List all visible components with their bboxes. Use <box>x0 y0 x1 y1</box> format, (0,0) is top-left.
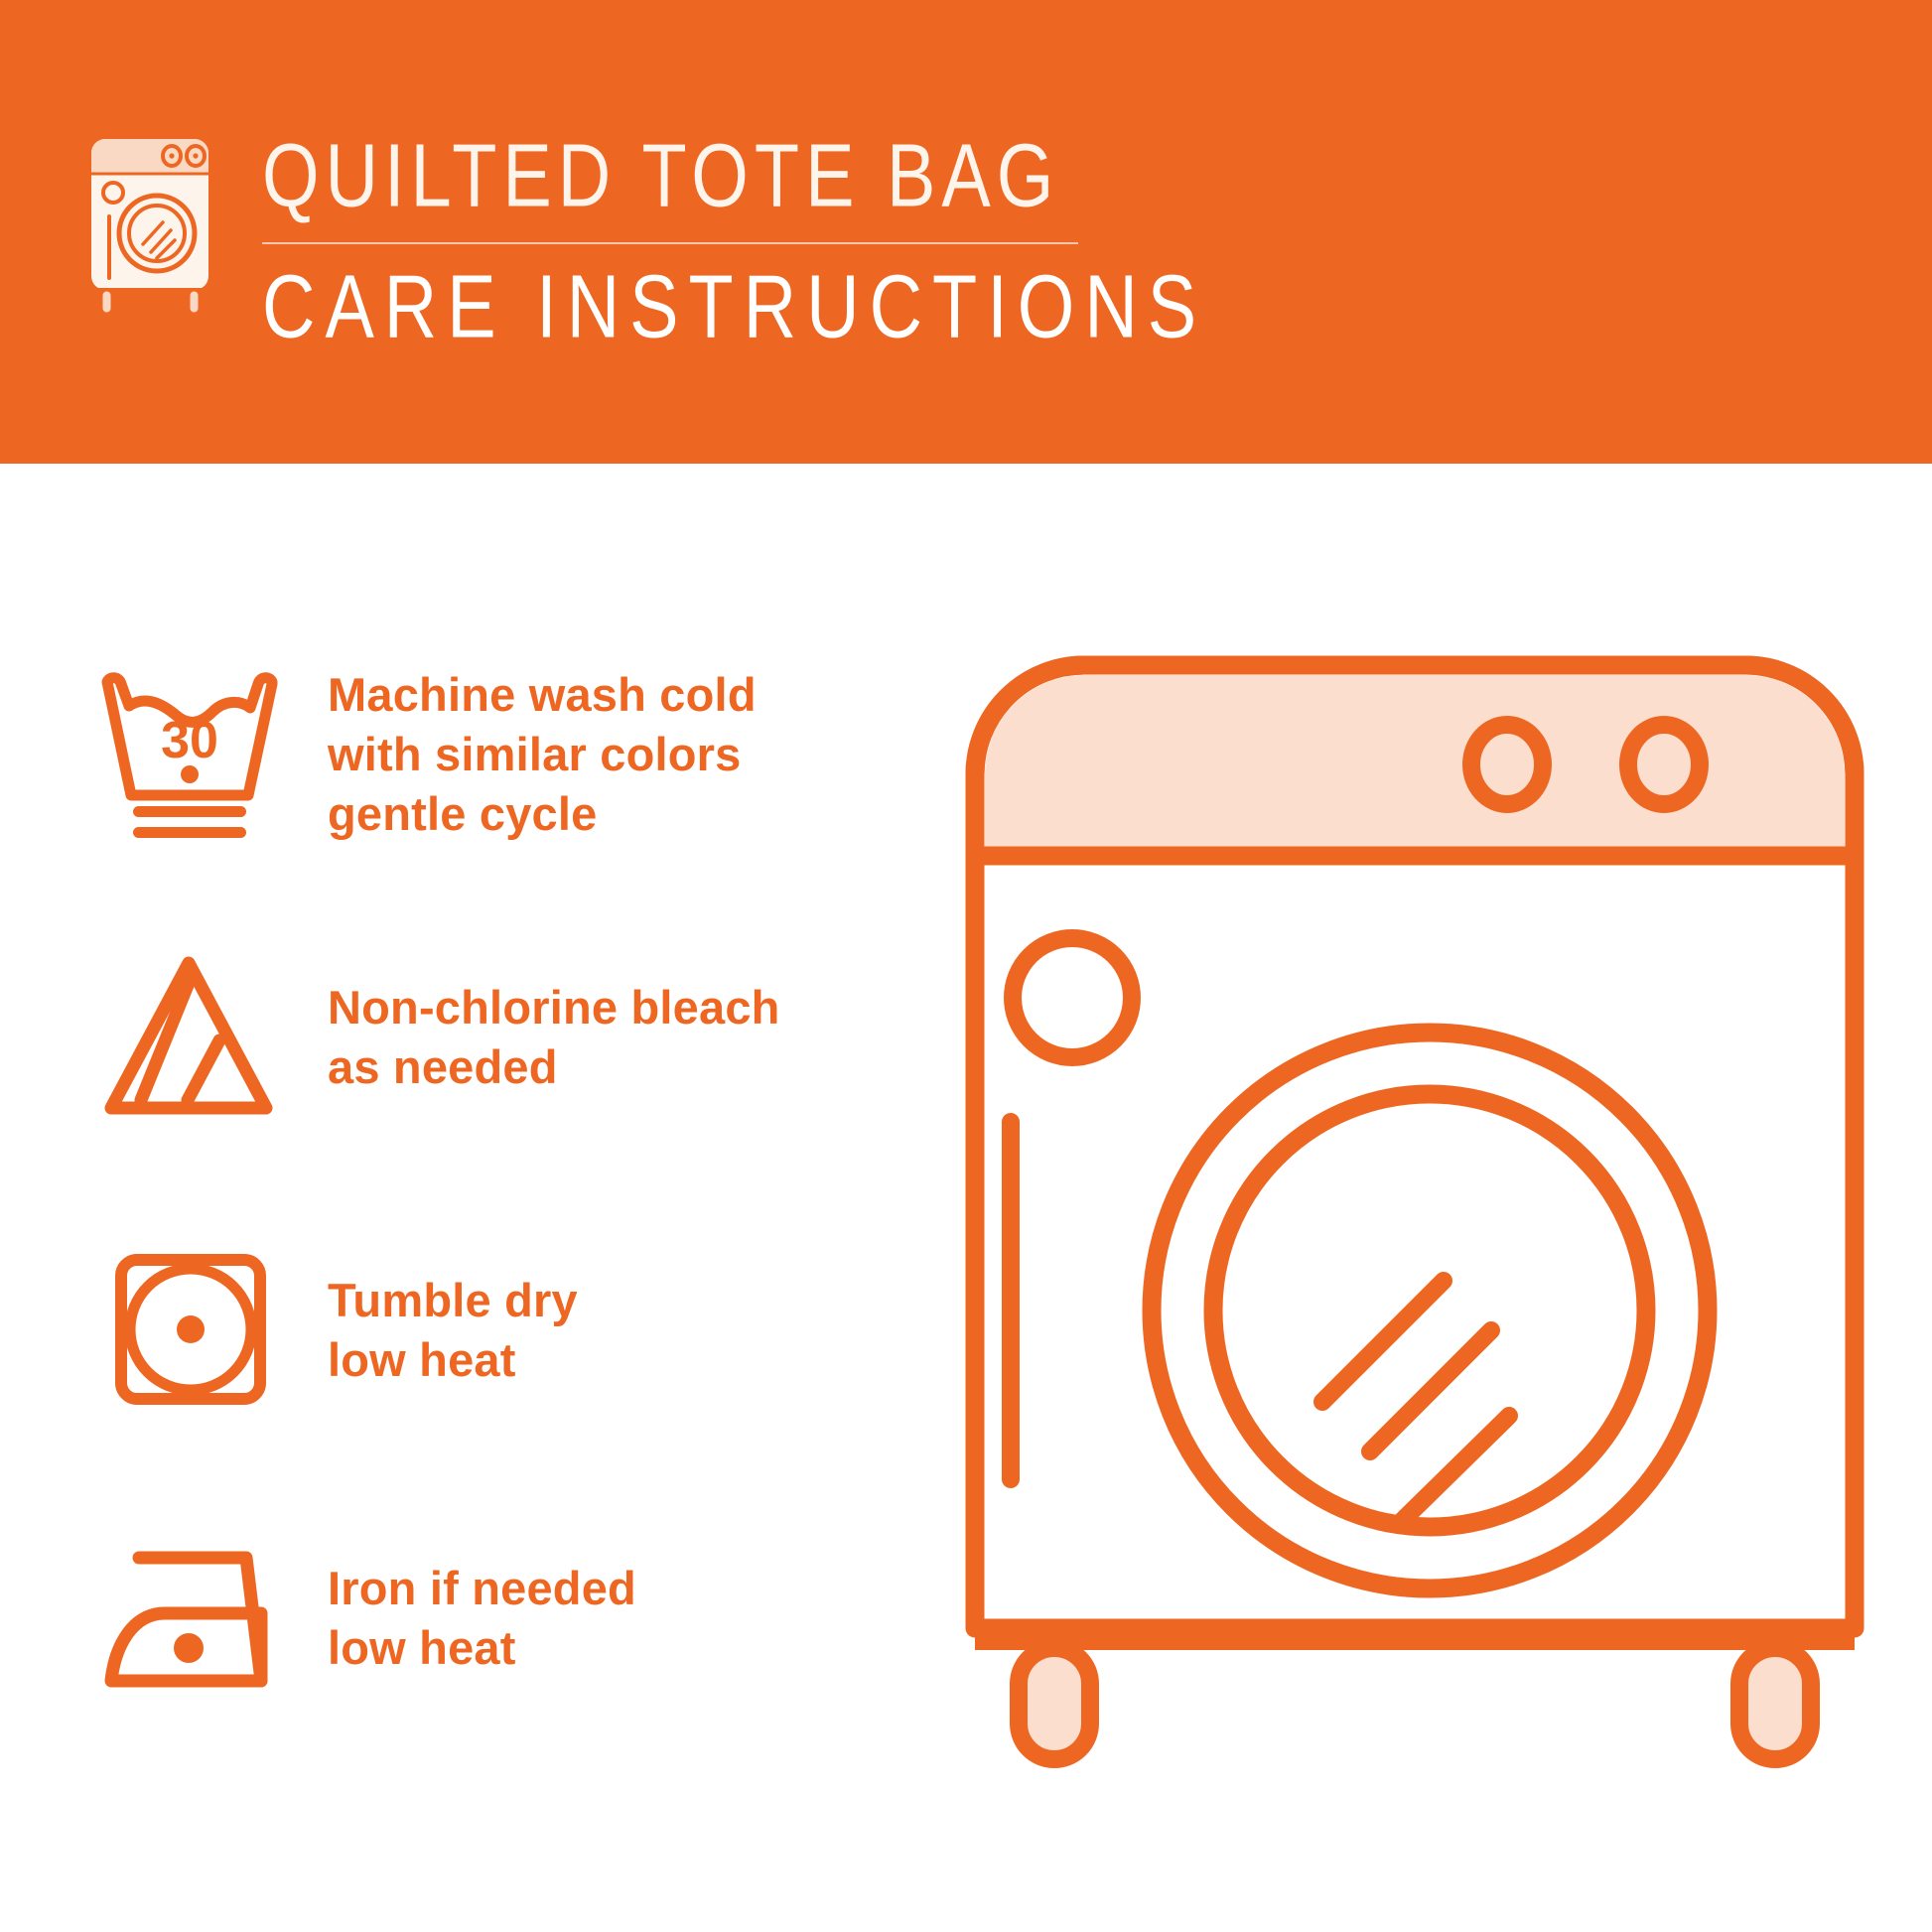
care-item-text: Tumble dry low heat <box>328 1271 933 1390</box>
title-divider <box>262 242 1078 244</box>
care-item-iron: Iron if needed low heat <box>0 1509 933 1727</box>
header-content: QUILTED TOTE BAG CARE INSTRUCTIONS <box>79 129 1206 336</box>
non-chlorine-bleach-triangle-icon <box>69 928 308 1147</box>
care-line: Machine wash cold <box>328 665 933 725</box>
care-line: low heat <box>328 1330 933 1390</box>
care-line: Non-chlorine bleach <box>328 978 933 1037</box>
care-line: Iron if needed <box>328 1559 933 1618</box>
care-line: low heat <box>328 1618 933 1678</box>
care-item-bleach: Non-chlorine bleach as needed <box>0 928 933 1147</box>
care-item-text: Non-chlorine bleach as needed <box>328 978 933 1097</box>
care-item-tumble-dry: Tumble dry low heat <box>0 1221 933 1440</box>
front-load-washing-machine-illustration <box>953 635 1876 1857</box>
page-title: QUILTED TOTE BAG <box>262 131 1206 220</box>
care-line: Tumble dry <box>328 1271 933 1330</box>
tumble-dry-low-heat-icon <box>69 1221 308 1440</box>
care-line: with similar colors <box>328 725 933 784</box>
care-line: as needed <box>328 1037 933 1097</box>
care-item-text: Machine wash cold with similar colors ge… <box>328 665 933 844</box>
wash-temperature-label: 30 <box>161 712 218 769</box>
care-item-text: Iron if needed low heat <box>328 1559 933 1678</box>
care-item-machine-wash: 30 Machine wash cold with similar colors… <box>0 645 933 864</box>
washing-machine-icon <box>79 129 238 318</box>
iron-low-heat-icon <box>69 1509 308 1727</box>
header-banner: QUILTED TOTE BAG CARE INSTRUCTIONS <box>0 0 1932 464</box>
page-subtitle: CARE INSTRUCTIONS <box>262 262 1206 351</box>
care-line: gentle cycle <box>328 784 933 844</box>
wash-basin-30-gentle-icon: 30 <box>69 645 308 864</box>
header-title-group: QUILTED TOTE BAG CARE INSTRUCTIONS <box>262 129 1206 336</box>
